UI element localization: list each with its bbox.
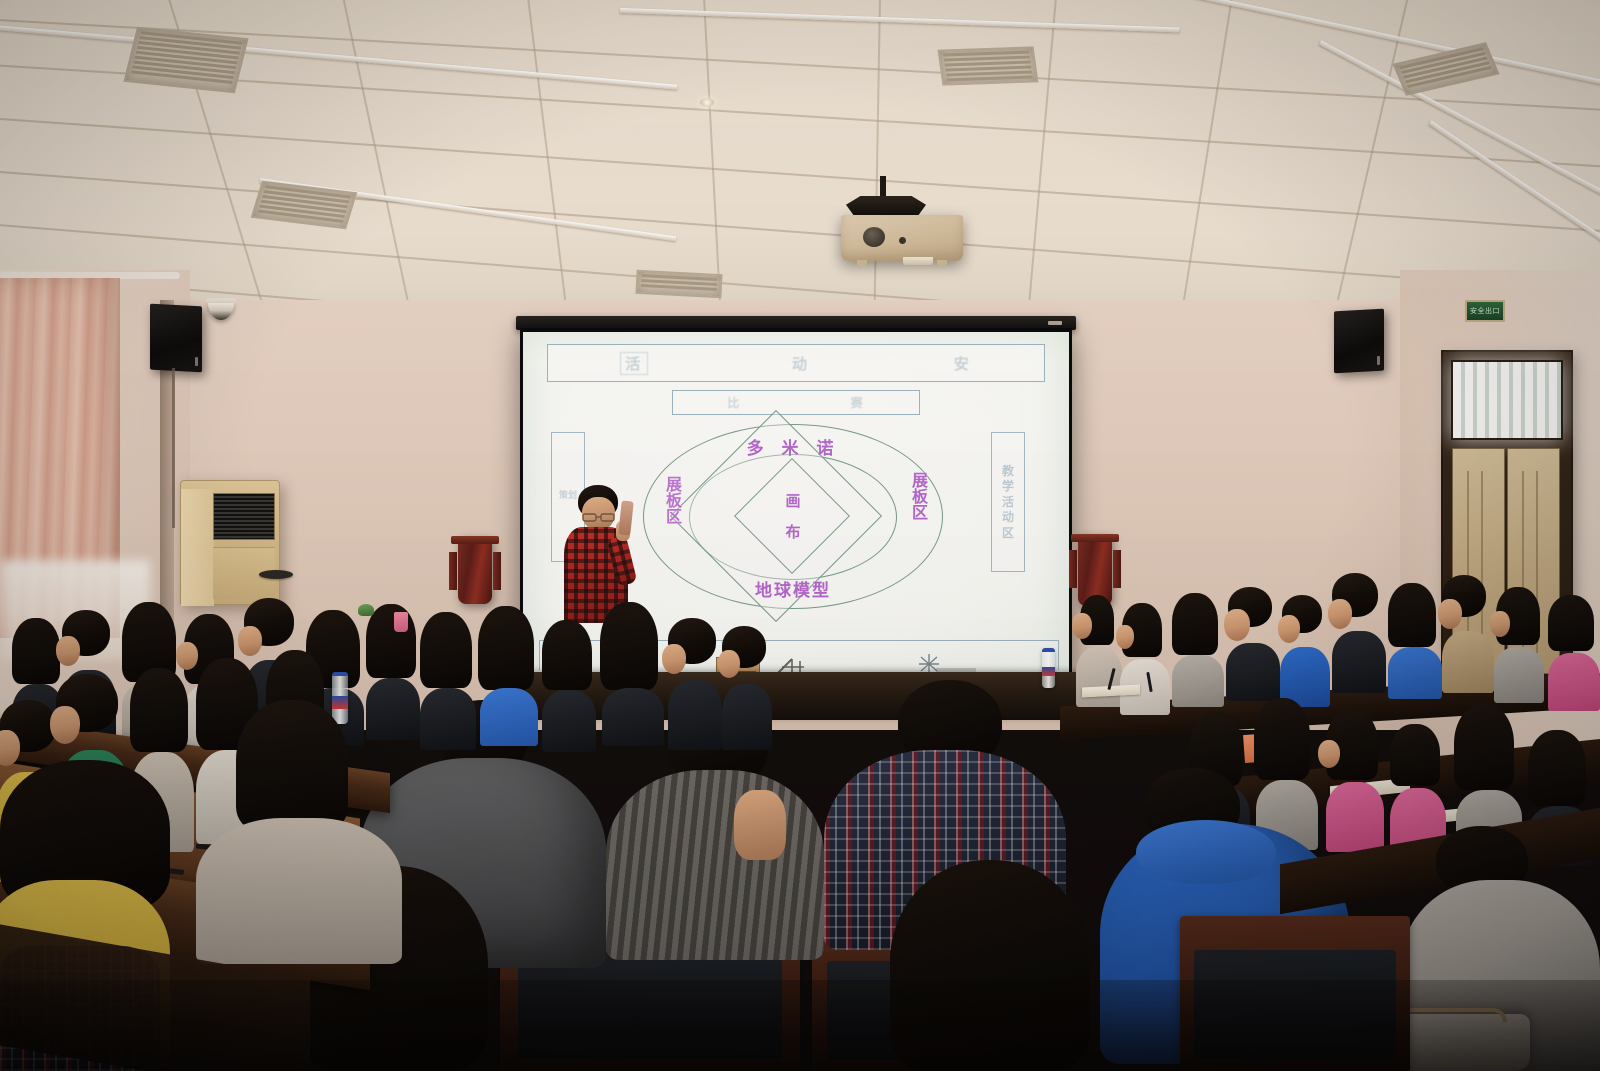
slide-sub-item-2: 赛 [851, 394, 865, 411]
eyeglasses-icon [582, 507, 616, 516]
hoodie-hood [1136, 820, 1276, 884]
slide-right-panel-char-5: 区 [1002, 527, 1014, 540]
pink-cup [394, 612, 408, 632]
ceiling-air-vent [251, 181, 358, 230]
floor-standing-air-conditioner [180, 480, 280, 605]
projector-lens [863, 227, 885, 247]
audience-row-center-mid [400, 590, 780, 740]
door-transom-window [1451, 360, 1563, 440]
audience-row-right-back [1060, 565, 1600, 705]
diagram-right-label: 展板区 [905, 472, 927, 520]
foreground-shadow-mass [0, 980, 1600, 1071]
diagram-top-label: 多 米 诺 [643, 434, 943, 459]
ceiling-projector [841, 215, 963, 261]
ceiling-air-vent [635, 270, 722, 298]
ceiling-air-vent [938, 46, 1039, 85]
exit-sign-text: 安全出口 [1470, 306, 1500, 316]
slide-right-panel-char-1: 教 [1002, 465, 1014, 478]
wall-speaker-left [150, 304, 202, 373]
diagram-left-label: 展板区 [659, 476, 681, 524]
projector-ir-sensor [899, 237, 906, 244]
slide-top-item-3: 安 [954, 353, 972, 374]
projector-ceiling-mount [880, 176, 886, 198]
slide-right-panel-char-3: 活 [1002, 496, 1014, 509]
diagram-center-label-1: 画 [753, 490, 833, 511]
ceiling-light-fixture [700, 98, 714, 107]
student-beige-left-front [196, 700, 406, 960]
striped-shirt [606, 770, 824, 960]
ceiling-air-vent [123, 27, 248, 94]
slide-top-item-1: 活 [620, 352, 648, 375]
wall-speaker-right [1334, 309, 1384, 374]
small-plant [358, 604, 374, 616]
slide-venn-diagram: 多 米 诺 地球模型 展板区 展板区 画 布 [643, 424, 943, 609]
dome-security-camera [206, 298, 236, 320]
exit-sign: 安全出口 [1465, 300, 1505, 322]
slide-top-item-2: 动 [792, 353, 810, 374]
diagram-center-label-2: 布 [753, 521, 833, 542]
slide-right-panel-char-4: 动 [1002, 511, 1014, 524]
slide-top-header-row: 活 动 安 [547, 344, 1044, 382]
held-object [618, 500, 633, 535]
slide-sub-item-1: 比 [727, 394, 741, 411]
slide-right-vertical-panel: 教 学 活 动 区 [991, 432, 1025, 572]
student-hand [734, 790, 786, 860]
lecture-hall-photo: 安全出口 活 动 安 比 赛 [0, 0, 1600, 1071]
slide-right-panel-char-2: 学 [1002, 480, 1014, 493]
suspended-tile-ceiling [0, 0, 1600, 330]
slide-sub-header-bar: 比 赛 [672, 390, 921, 415]
